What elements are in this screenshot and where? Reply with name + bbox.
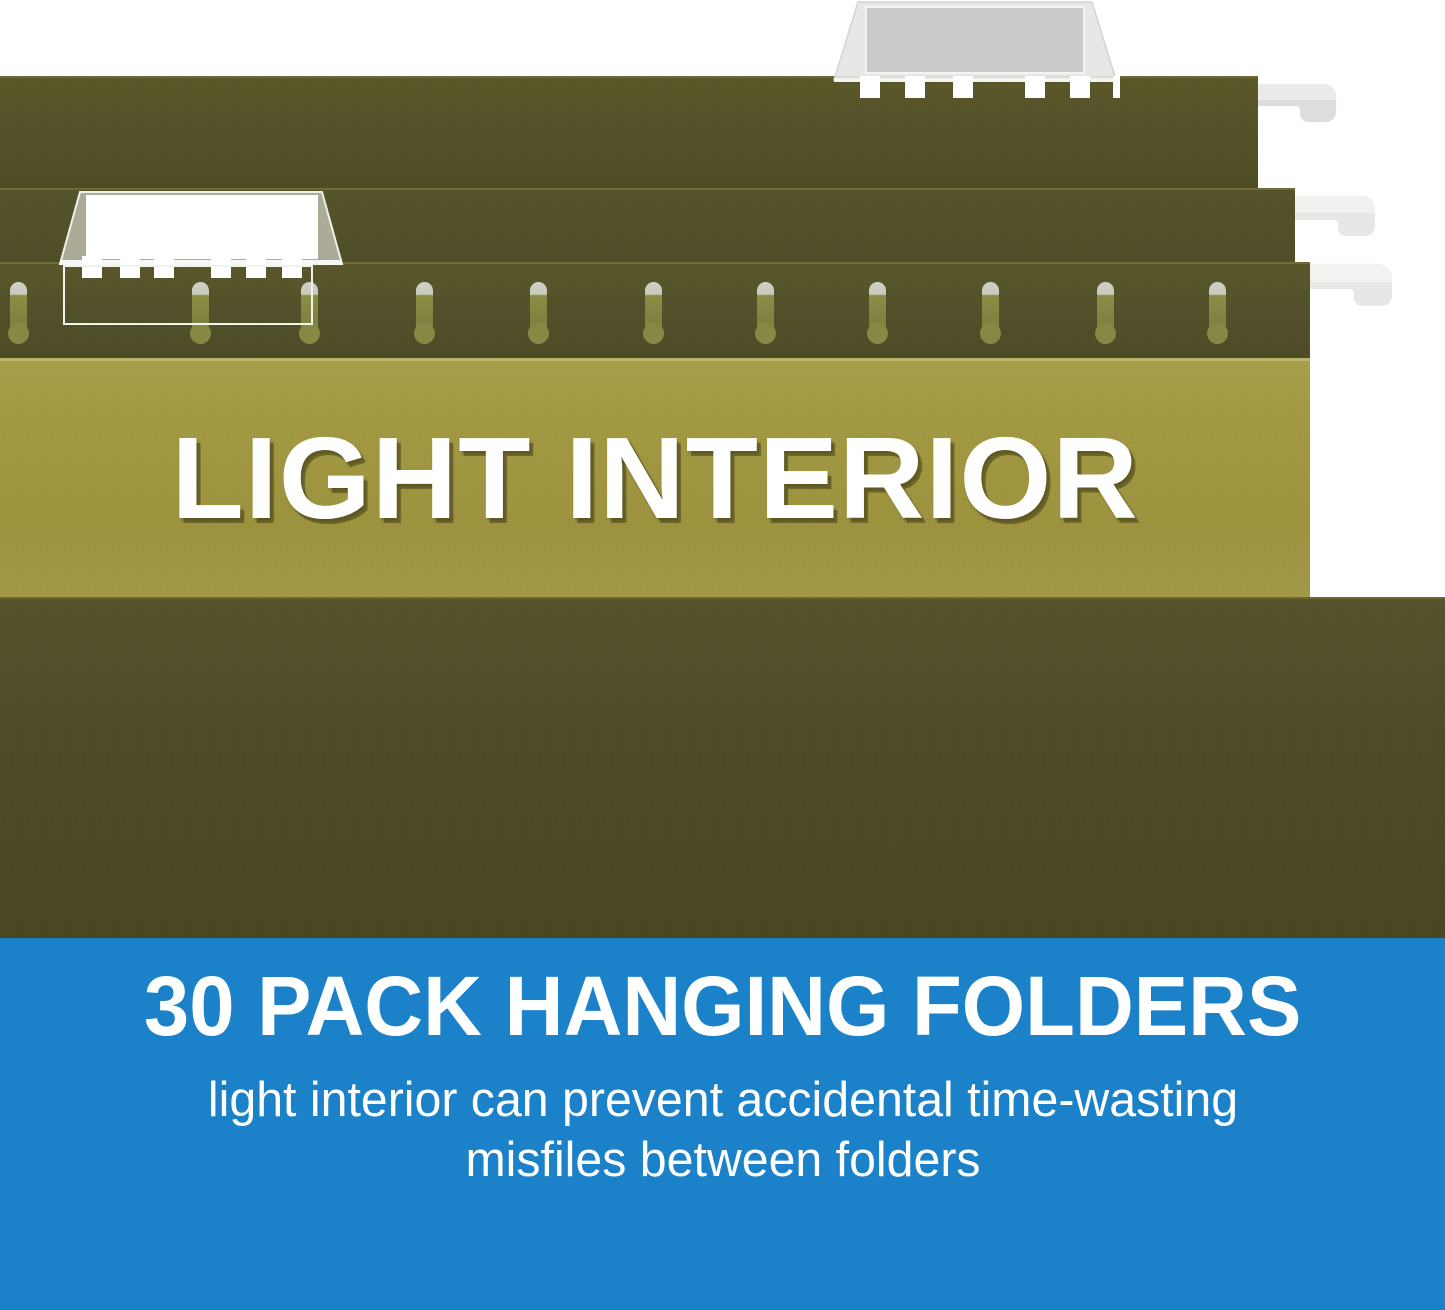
tab-slot — [757, 282, 774, 338]
index-tab-left-shape — [56, 186, 346, 331]
light-interior-headline-text: LIGHT INTERIOR — [171, 420, 1138, 536]
banner-subtitle-line-2: misfiles between folders — [67, 1130, 1377, 1191]
tab-slot — [869, 282, 886, 338]
hook-front-icon — [1310, 264, 1392, 312]
tab-slot — [982, 282, 999, 338]
banner-subtitle-line-1: light interior can prevent accidental ti… — [67, 1070, 1377, 1131]
tab-slot — [416, 282, 433, 338]
hook-middle-icon — [1295, 196, 1375, 242]
index-tab-right[interactable] — [830, 0, 1120, 98]
banner-subtitle: light interior can prevent accidental ti… — [67, 1070, 1377, 1192]
folder-front-body — [0, 597, 1445, 938]
tab-slot — [10, 282, 27, 338]
banner-headline: 30 PACK HANGING FOLDERS — [144, 964, 1301, 1050]
index-tab-right-shape — [830, 0, 1120, 98]
marketing-banner: 30 PACK HANGING FOLDERS light interior c… — [0, 938, 1445, 1310]
tab-slot — [1097, 282, 1114, 338]
tab-slot — [1209, 282, 1226, 338]
product-marketing-image: LIGHT INTERIOR 30 PACK HANGING FOLDERS l… — [0, 0, 1445, 1310]
product-photo: LIGHT INTERIOR — [0, 0, 1445, 938]
tab-slot — [645, 282, 662, 338]
hook-back-icon — [1258, 84, 1336, 128]
tab-slot — [530, 282, 547, 338]
light-interior-headline: LIGHT INTERIOR — [0, 358, 1310, 597]
index-tab-left[interactable] — [56, 186, 346, 331]
